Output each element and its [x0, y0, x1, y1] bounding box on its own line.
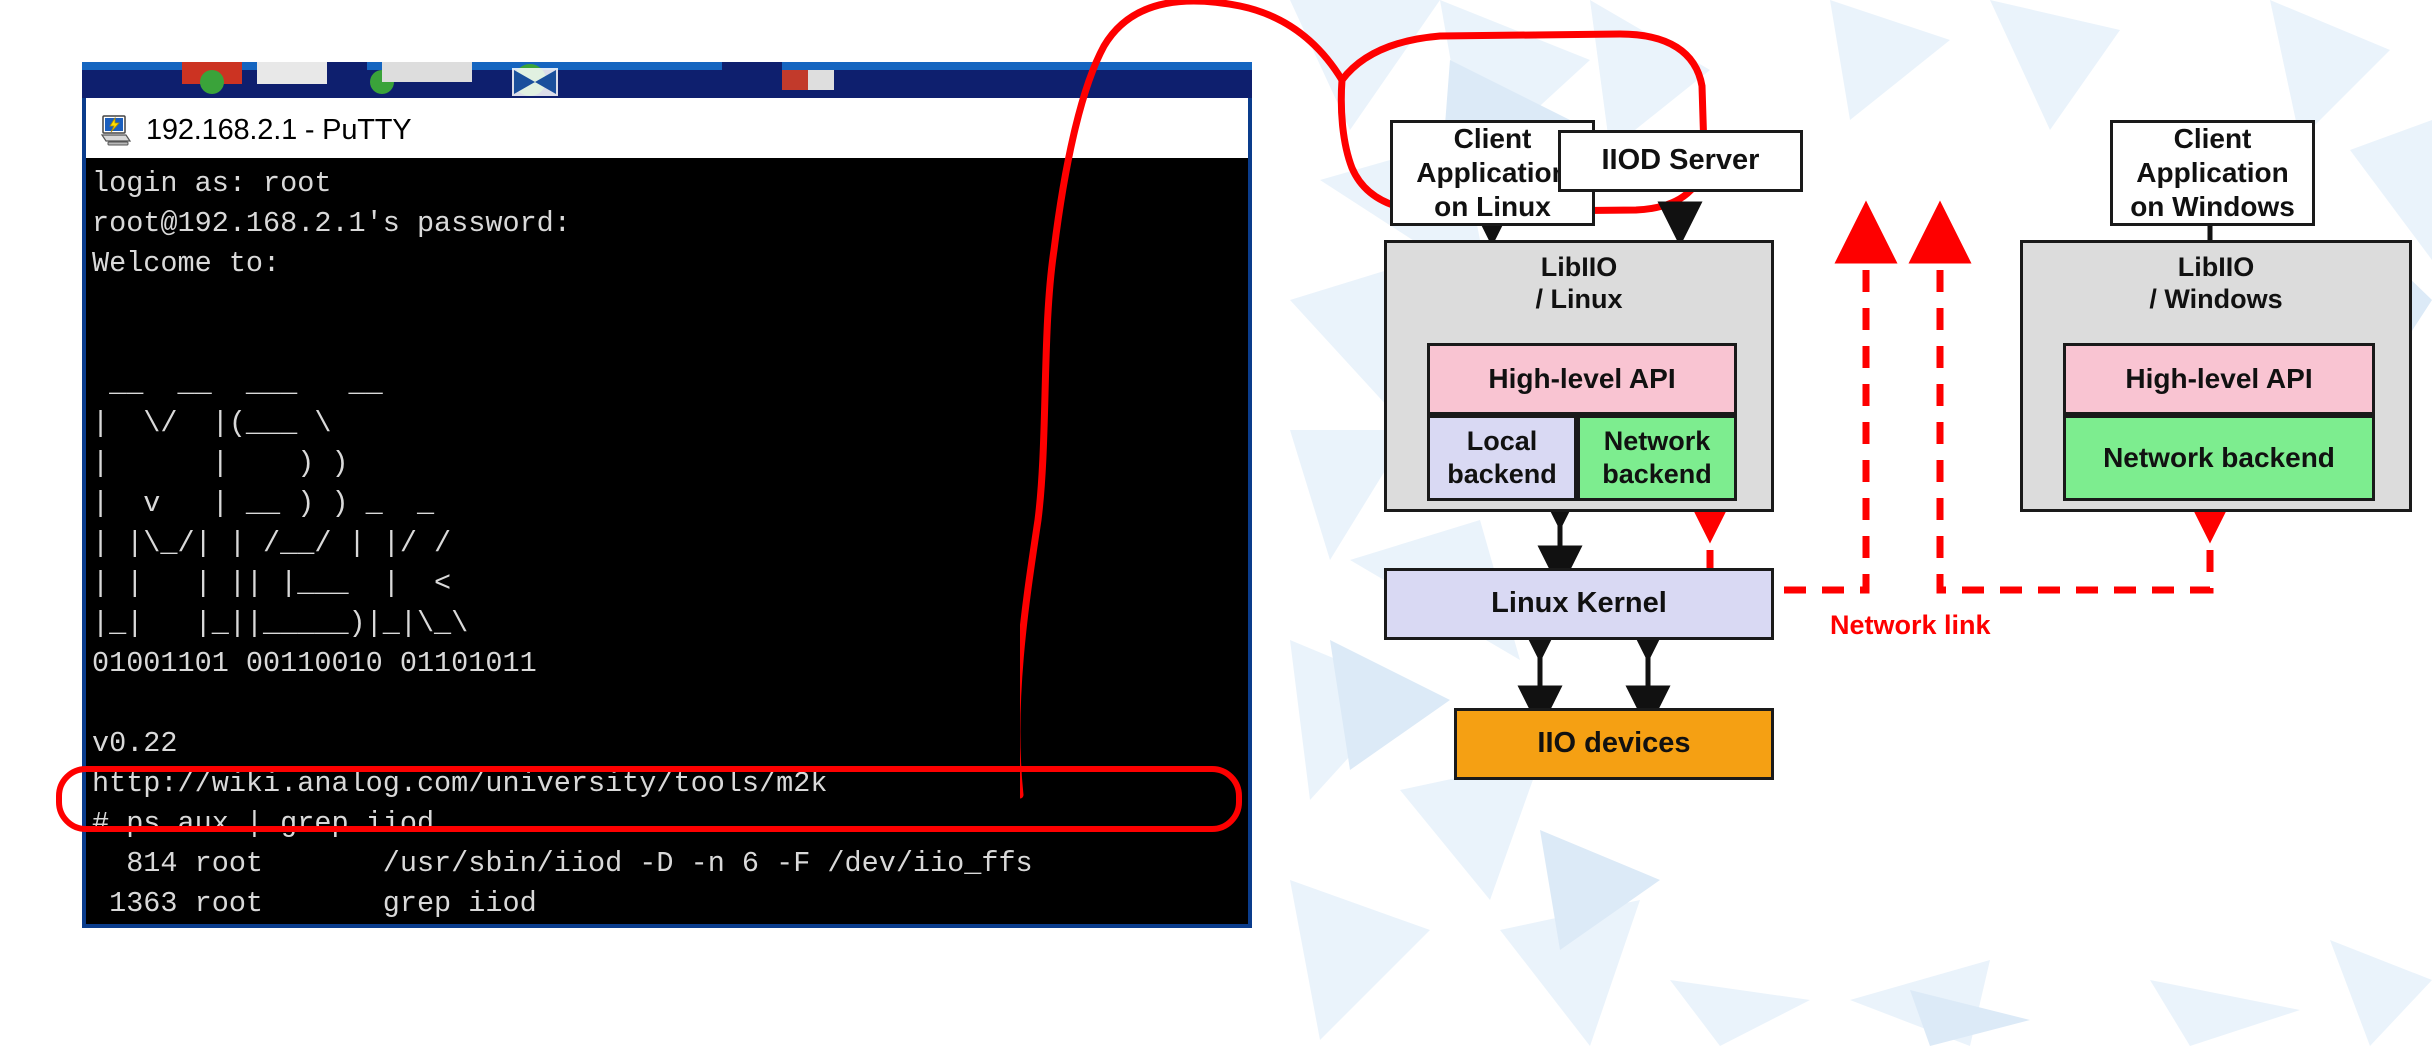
node-local-backend[interactable]: Local backend [1427, 415, 1577, 501]
node-label: Linux Kernel [1491, 586, 1667, 621]
node-linux-kernel[interactable]: Linux Kernel [1384, 568, 1774, 640]
node-high-level-api-linux[interactable]: High-level API [1427, 343, 1737, 415]
node-label: Client Application on Linux [1416, 122, 1568, 224]
node-label: High-level API [2125, 362, 2312, 396]
node-label: Local backend [1447, 425, 1557, 491]
label-network-link: Network link [1830, 610, 1991, 641]
node-label: Network backend [1602, 425, 1712, 491]
putty-computer-icon [100, 114, 134, 146]
node-network-backend-linux[interactable]: Network backend [1577, 415, 1737, 501]
screenshot-root: 192.168.2.1 - PuTTY login as: root root@… [0, 0, 2432, 1046]
terminal-output[interactable]: login as: root root@192.168.2.1's passwo… [86, 158, 1248, 924]
node-label: Client Application on Windows [2130, 122, 2295, 224]
putty-window-topstrip [82, 62, 1252, 98]
node-label: IIO devices [1537, 726, 1690, 761]
node-network-backend-windows[interactable]: Network backend [2063, 415, 2375, 501]
node-label: Network backend [2103, 441, 2335, 475]
node-client-application-windows[interactable]: Client Application on Windows [2110, 120, 2315, 226]
node-label: IIOD Server [1602, 143, 1760, 178]
stack-libiio-linux: LibIIO / Linux High-level API Local back… [1384, 240, 1774, 512]
terminal-body: login as: root root@192.168.2.1's passwo… [92, 167, 1033, 924]
node-libiio-windows-title: LibIIO / Windows [2023, 251, 2409, 316]
node-libiio-linux-title: LibIIO / Linux [1387, 251, 1771, 316]
putty-titlebar[interactable]: 192.168.2.1 - PuTTY [86, 102, 1248, 158]
putty-window-title: 192.168.2.1 - PuTTY [146, 114, 411, 147]
node-iiod-server[interactable]: IIOD Server [1558, 130, 1803, 192]
node-iio-devices[interactable]: IIO devices [1454, 708, 1774, 780]
libiio-architecture-diagram: Client Application on Linux IIOD Server … [1380, 120, 2420, 1020]
stack-libiio-windows: LibIIO / Windows High-level API Network … [2020, 240, 2412, 512]
node-high-level-api-windows[interactable]: High-level API [2063, 343, 2375, 415]
node-label: High-level API [1488, 362, 1675, 396]
